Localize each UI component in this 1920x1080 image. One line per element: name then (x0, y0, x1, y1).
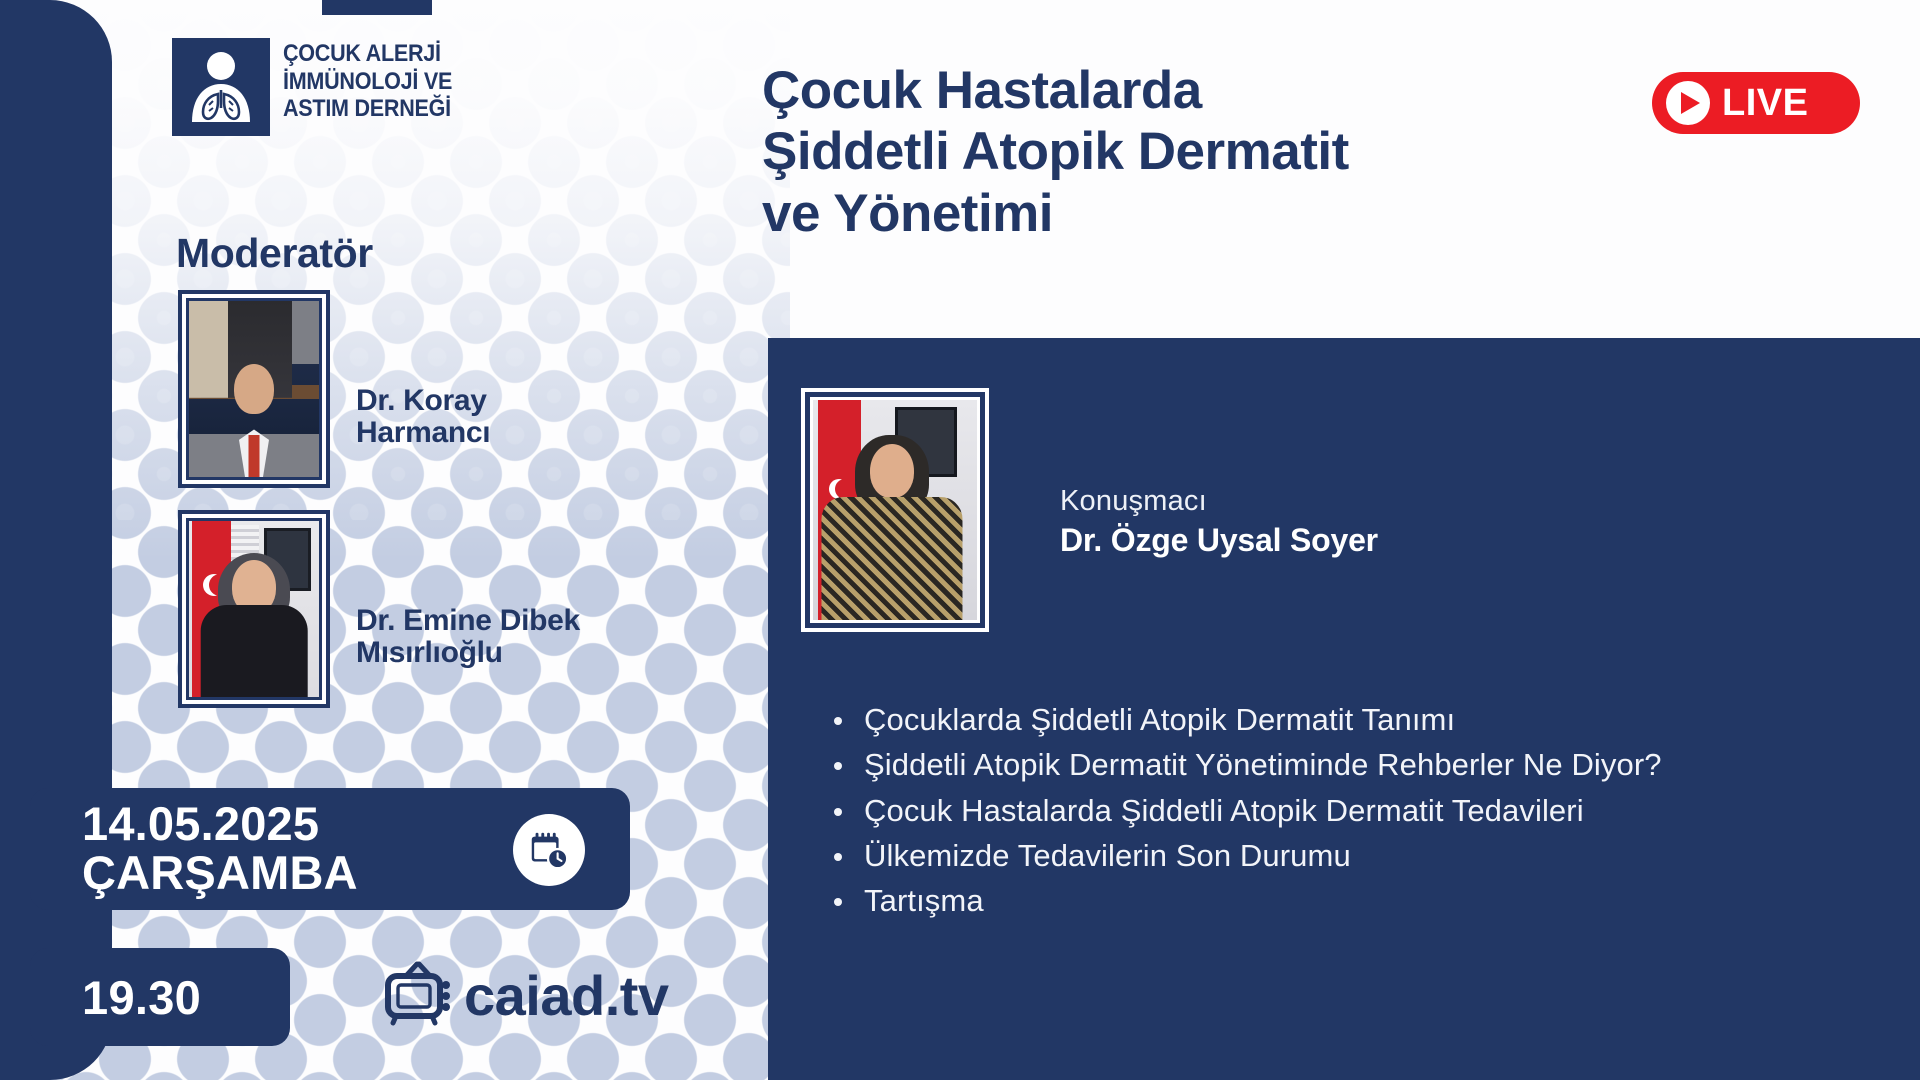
title-line-3: ve Yönetimi (762, 183, 1592, 244)
left-navy-bar (0, 0, 112, 1080)
tv-icon (384, 960, 456, 1031)
title-line-1: Çocuk Hastalarda (762, 60, 1592, 121)
list-item: Çocuk Hastalarda Şiddetli Atopik Dermati… (828, 791, 1888, 831)
speaker-name: Dr. Özge Uysal Soyer (1060, 521, 1378, 559)
moderator-name-1-line2: Harmancı (356, 417, 490, 449)
channel-label: caiad.tv (464, 968, 669, 1024)
event-date: 14.05.2025 (82, 800, 358, 849)
list-item: Tartışma (828, 881, 1888, 921)
logo-line-3: ASTIM DERNEĞİ (283, 95, 452, 123)
event-date-text: 14.05.2025 ÇARŞAMBA (82, 800, 358, 898)
moderator-name-1-line1: Dr. Koray (356, 385, 490, 417)
list-item: Çocuklarda Şiddetli Atopik Dermatit Tanı… (828, 700, 1888, 740)
live-badge[interactable]: LIVE (1652, 72, 1860, 134)
organization-logo: ÇOCUK ALERJİ İMMÜNOLOJİ VE ASTIM DERNEĞİ (172, 38, 475, 136)
live-label: LIVE (1722, 84, 1808, 122)
moderator-item-1: Dr. Koray Harmancı (178, 290, 490, 488)
logo-line-2: İMMÜNOLOJİ VE (283, 68, 452, 96)
list-item: Ülkemizde Tedavilerin Son Durumu (828, 836, 1888, 876)
organization-logo-text: ÇOCUK ALERJİ İMMÜNOLOJİ VE ASTIM DERNEĞİ (283, 38, 452, 123)
calendar-clock-icon (513, 814, 585, 886)
event-time-box: 19.30 (30, 948, 290, 1046)
channel-row[interactable]: caiad.tv (384, 960, 669, 1031)
logo-line-1: ÇOCUK ALERJİ (283, 40, 452, 68)
top-navy-tab (322, 0, 432, 15)
event-date-box: 14.05.2025 ÇARŞAMBA (30, 788, 630, 910)
event-day: ÇARŞAMBA (82, 849, 358, 898)
moderator-name-2-line1: Dr. Emine Dibek (356, 605, 580, 637)
person-with-lungs-icon (172, 38, 270, 136)
title-line-2: Şiddetli Atopik Dermatit (762, 121, 1592, 182)
speaker-meta: Konuşmacı Dr. Özge Uysal Soyer (1060, 485, 1378, 560)
event-time: 19.30 (82, 970, 201, 1025)
speaker-role: Konuşmacı (1060, 485, 1378, 518)
avatar-emine-dibek-misirlioglu (178, 510, 330, 708)
avatar-koray-harmanci (178, 290, 330, 488)
avatar-ozge-uysal-soyer (801, 388, 989, 632)
moderator-item-2: Dr. Emine Dibek Mısırlıoğlu (178, 510, 580, 708)
topic-list: Çocuklarda Şiddetli Atopik Dermatit Tanı… (828, 700, 1888, 926)
list-item: Şiddetli Atopik Dermatit Yönetiminde Reh… (828, 745, 1888, 785)
webinar-poster: ÇOCUK ALERJİ İMMÜNOLOJİ VE ASTIM DERNEĞİ… (0, 0, 1920, 1080)
page-title: Çocuk Hastalarda Şiddetli Atopik Dermati… (762, 60, 1592, 244)
moderator-name-2-line2: Mısırlıoğlu (356, 637, 580, 669)
moderator-name-1: Dr. Koray Harmancı (356, 385, 490, 450)
moderator-heading: Moderatör (176, 230, 373, 277)
moderator-name-2: Dr. Emine Dibek Mısırlıoğlu (356, 605, 580, 670)
play-icon (1666, 81, 1710, 125)
